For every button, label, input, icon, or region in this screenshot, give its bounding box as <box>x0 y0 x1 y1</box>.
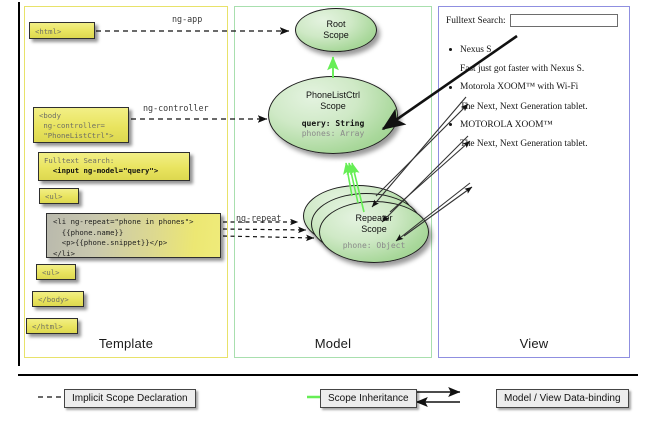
ctrl-scope-member-phones: phones: Array <box>302 129 365 138</box>
code-box-html-close: </html> <box>26 318 78 334</box>
view-column-label: View <box>439 336 629 351</box>
scope-ellipse-repeater: Repeater Scope phone: Object <box>319 201 429 263</box>
view-search-label: Fulltext Search: <box>446 16 506 26</box>
repeater-scope-title-1: Repeater <box>355 213 392 223</box>
legend-implicit-scope: Implicit Scope Declaration <box>64 389 196 408</box>
diagram-canvas: Template Model View <html> <body ng-cont… <box>0 0 645 425</box>
ctrl-scope-title-1: PhoneListCtrl <box>306 90 360 100</box>
legend-scope-inheritance: Scope Inheritance <box>320 389 417 408</box>
edge-label-ng-controller: ng-controller <box>143 103 209 113</box>
scope-ellipse-root: Root Scope <box>295 8 377 52</box>
view-content: Fulltext Search: Nexus S Fast just got f… <box>446 14 622 157</box>
list-item: Nexus S <box>446 45 622 56</box>
legend-divider <box>18 374 638 376</box>
code-box-ul-open: <ul> <box>39 188 79 204</box>
legend-scope-inheritance-label: Scope Inheritance <box>320 389 417 408</box>
code-box-body-open: <body ng-controller= "PhoneListCtrl"> <box>33 107 129 143</box>
bullet-icon <box>449 86 452 89</box>
template-column-label: Template <box>25 336 227 351</box>
phone-name: Nexus S <box>460 45 492 55</box>
code-box-ul-close: <ul> <box>36 264 76 280</box>
phone-snippet: The Next, Next Generation tablet. <box>446 139 622 149</box>
list-item: Motorola XOOM™ with Wi-Fi <box>446 82 622 93</box>
edge-label-ng-repeat: ng-repeat <box>236 213 281 223</box>
legend-data-binding-label: Model / View Data-binding <box>496 389 629 408</box>
code-box-li-ng-repeat: <li ng-repeat="phone in phones"> {{phone… <box>46 213 221 258</box>
scope-ellipse-phonelistctrl: PhoneListCtrl Scope query: String phones… <box>268 76 398 154</box>
legend-data-binding: Model / View Data-binding <box>496 389 629 408</box>
model-column: Model <box>234 6 432 358</box>
phone-snippet: The Next, Next Generation tablet. <box>446 102 622 112</box>
code-box-html-open: <html> <box>29 22 95 39</box>
view-search-row: Fulltext Search: <box>446 14 622 27</box>
view-phone-list: Nexus S Fast just got faster with Nexus … <box>446 45 622 149</box>
list-item: MOTOROLA XOOM™ <box>446 120 622 131</box>
repeater-scope-title-2: Scope <box>361 224 387 234</box>
phone-snippet: Fast just got faster with Nexus S. <box>446 64 622 74</box>
bullet-icon <box>449 123 452 126</box>
model-column-label: Model <box>235 336 431 351</box>
code-search-input: <input ng-model="query"> <box>44 166 158 175</box>
ctrl-scope-title-2: Scope <box>320 101 346 111</box>
code-search-label: Fulltext Search: <box>44 156 114 165</box>
phone-name: Motorola XOOM™ with Wi-Fi <box>460 82 578 92</box>
view-search-input[interactable] <box>510 14 618 27</box>
code-box-body-close: </body> <box>32 291 84 307</box>
ctrl-scope-member-query: query: String <box>302 119 365 128</box>
edge-label-ng-app: ng-app <box>172 14 202 24</box>
repeater-scope-member-phone: phone: Object <box>343 241 406 250</box>
code-box-fulltext-search: Fulltext Search: <input ng-model="query"… <box>38 152 190 181</box>
legend-implicit-scope-label: Implicit Scope Declaration <box>64 389 196 408</box>
bullet-icon <box>449 48 452 51</box>
root-scope-title-2: Scope <box>323 30 349 40</box>
phone-name: MOTOROLA XOOM™ <box>460 120 553 130</box>
root-scope-title-1: Root <box>326 19 345 29</box>
